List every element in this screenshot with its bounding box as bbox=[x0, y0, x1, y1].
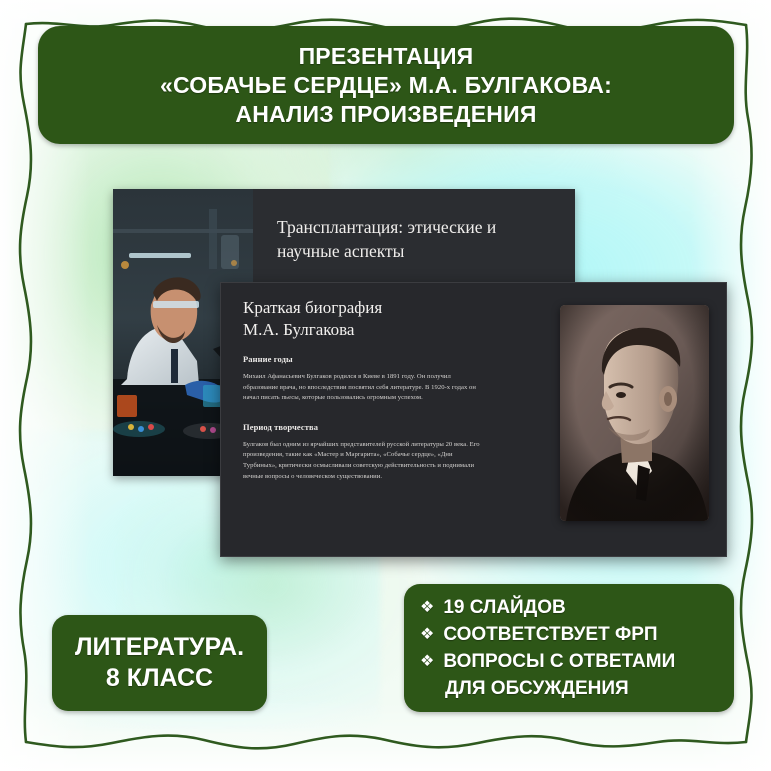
page-title-line-3: АНАЛИЗ ПРОИЗВЕДЕНИЯ bbox=[235, 100, 536, 129]
feature-text-slides: 19 СЛАЙДОВ bbox=[443, 594, 565, 621]
poster-title-plate: ПРЕЗЕНТАЦИЯ «СОБАЧЬЕ СЕРДЦЕ» М.А. БУЛГАК… bbox=[38, 26, 734, 144]
slide-back-title: Трансплантация: этические и научные аспе… bbox=[277, 215, 545, 263]
slide-front-text-column: Краткая биография М.А. Булгакова Ранние … bbox=[243, 297, 554, 544]
slide-front-title-line-1: Краткая биография bbox=[243, 297, 540, 319]
subject-grade-plate: ЛИТЕРАТУРА. 8 КЛАСС bbox=[52, 615, 267, 711]
feature-item-frp: ❖ СООТВЕТСТВУЕТ ФРП bbox=[420, 621, 722, 648]
page-title-line-2: «СОБАЧЬЕ СЕРДЦЕ» М.А. БУЛГАКОВА: bbox=[160, 71, 612, 100]
feature-item-questions: ❖ ВОПРОСЫ С ОТВЕТАМИ bbox=[420, 648, 722, 675]
page-title-line-1: ПРЕЗЕНТАЦИЯ bbox=[299, 42, 474, 71]
diamond-bullet-icon: ❖ bbox=[420, 648, 434, 675]
poster-canvas: ПРЕЗЕНТАЦИЯ «СОБАЧЬЕ СЕРДЦЕ» М.А. БУЛГАК… bbox=[0, 0, 771, 771]
feature-text-questions: ВОПРОСЫ С ОТВЕТАМИ bbox=[443, 648, 675, 675]
section-body-creative-period: Булгаков был одним из ярчайших представи… bbox=[243, 440, 481, 482]
feature-text-frp: СООТВЕТСТВУЕТ ФРП bbox=[443, 621, 657, 648]
section-spacer bbox=[243, 404, 540, 421]
grade-label: 8 КЛАСС bbox=[106, 663, 213, 694]
feature-item-slides: ❖ 19 СЛАЙДОВ bbox=[420, 594, 722, 621]
section-heading-early-years: Ранние годы bbox=[243, 353, 540, 365]
slide-preview-biography[interactable]: Краткая биография М.А. Булгакова Ранние … bbox=[220, 282, 727, 557]
diamond-bullet-icon: ❖ bbox=[420, 594, 434, 621]
feature-text-questions-continuation: ДЛЯ ОБСУЖДЕНИЯ bbox=[445, 675, 722, 702]
slide-front-title-line-2: М.А. Булгакова bbox=[243, 319, 540, 341]
bulgakov-portrait-photo bbox=[560, 305, 709, 521]
section-body-early-years: Михаил Афанасьевич Булгаков родился в Ки… bbox=[243, 372, 481, 404]
subject-label: ЛИТЕРАТУРА. bbox=[75, 632, 244, 663]
slide-front-image-column bbox=[554, 297, 714, 544]
diamond-bullet-icon: ❖ bbox=[420, 621, 434, 648]
section-heading-creative-period: Период творчества bbox=[243, 421, 540, 433]
features-plate: ❖ 19 СЛАЙДОВ ❖ СООТВЕТСТВУЕТ ФРП ❖ ВОПРО… bbox=[404, 584, 734, 712]
slide-front-title: Краткая биография М.А. Булгакова bbox=[243, 297, 540, 341]
